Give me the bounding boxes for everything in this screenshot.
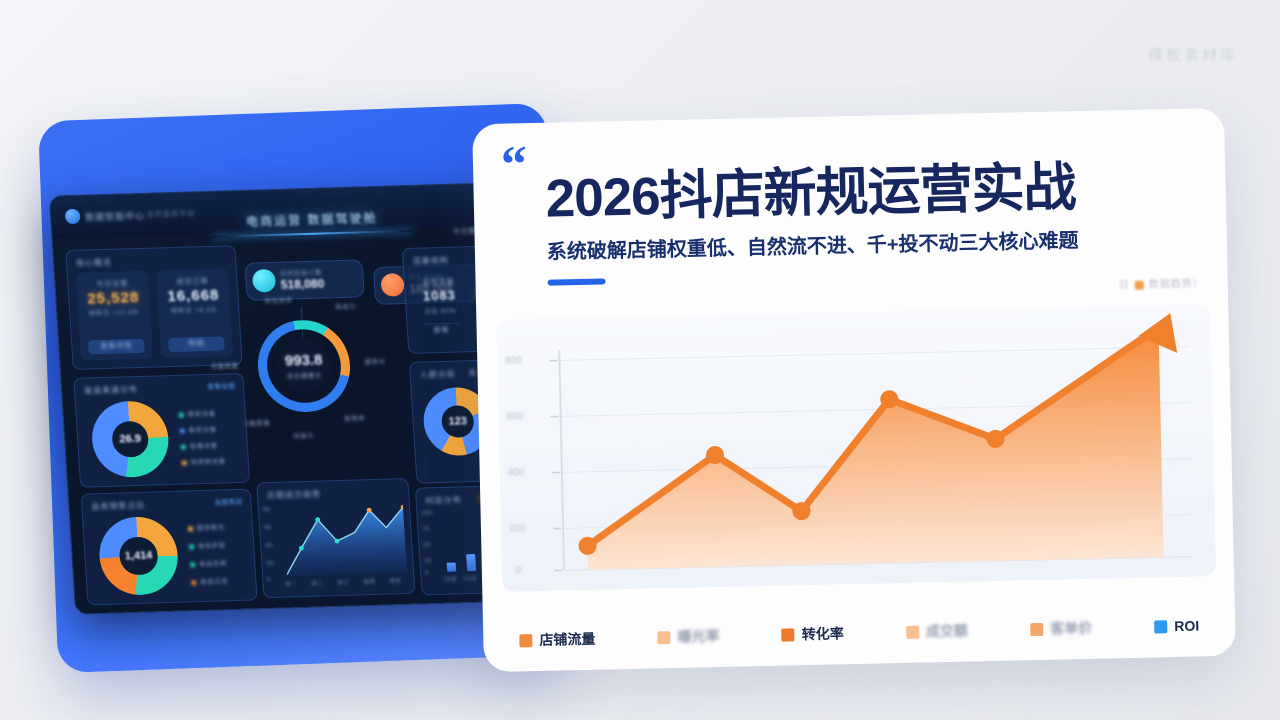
panel-more-link[interactable]: 查看全部	[207, 381, 236, 392]
pending-orders-icon	[380, 273, 404, 297]
x-tick: 周五	[389, 577, 401, 584]
y-tick: 2K	[266, 561, 275, 567]
y-tick: 8K	[263, 507, 272, 513]
legend-label: 客单价	[1050, 618, 1092, 639]
gauge-label: 商品力	[335, 302, 357, 312]
kpi-sub: 较昨日 +8.4%	[158, 304, 231, 315]
legend-item-aov[interactable]: 客单价	[1030, 618, 1092, 639]
gauge-label: 流量质量	[211, 361, 240, 371]
legend-label: 店铺流量	[539, 629, 595, 650]
kpi-value: 16,668	[157, 286, 230, 305]
y-tick: 25	[424, 558, 432, 564]
donut-chart: 1,414	[97, 516, 180, 596]
kpi-button[interactable]: 查看	[423, 322, 461, 338]
panel-category-share: 品类销售占比 全部类目 1,414 服饰鞋包 美妆护肤 食品生鲜 家居日用	[81, 489, 258, 606]
panel-title: 近期成交趋势	[267, 489, 322, 502]
gauge-label: 复购率	[344, 413, 366, 423]
legend-swatch-icon	[782, 628, 795, 641]
y-tick: 100	[421, 510, 433, 516]
y-axis-tick: 400	[508, 467, 525, 478]
content-card: “ 2026抖店新规运营实战 系统破解店铺权重低、自然流不进、千+投不动三大核心…	[472, 108, 1236, 672]
chart-meta-text: 数据趋势）	[1149, 278, 1204, 290]
legend-item: 服饰鞋包	[188, 522, 226, 532]
y-axis-tick: 600	[506, 411, 523, 422]
y-tick: 4K	[265, 543, 274, 549]
stat-pill[interactable]: 实时在线人数 518,080	[244, 259, 364, 300]
bar	[447, 563, 457, 572]
gauge-label: 转化效率	[265, 295, 294, 305]
dashboard-brand: 数据智能中心	[85, 209, 146, 224]
y-tick: 75	[422, 526, 430, 532]
legend-item: 直播流量	[180, 441, 218, 451]
legend-swatch-icon	[906, 625, 919, 638]
donut-value: 1,414	[97, 516, 180, 596]
kpi-value: 25,528	[77, 289, 150, 308]
page-title: 2026抖店新规运营实战	[545, 142, 1207, 232]
panel-title: 渠道来源分布	[84, 384, 139, 397]
donut-value: 26.9	[90, 400, 171, 478]
legend-label: 转化率	[802, 623, 844, 644]
legend-item-exposure[interactable]: 曝光率	[657, 626, 719, 647]
legend-item: 家居日用	[191, 576, 229, 586]
legend-item: 美妆护肤	[189, 540, 227, 550]
kpi-card[interactable]: 成交订单 16,668 较昨日 +8.4% 明细	[156, 268, 234, 358]
y-tick: 0	[425, 570, 429, 576]
x-tick: 周一	[285, 580, 297, 587]
panel-sales-trend: 近期成交趋势 8K 6K 4K 2K 0	[256, 478, 415, 598]
mini-area-chart	[283, 501, 408, 576]
legend-label: 成交额	[926, 621, 968, 642]
panel-channel-distribution: 渠道来源分布 查看全部 26.9 搜索流量 推荐流量 直播流量 短视频流量	[73, 373, 250, 488]
stat-pill-value: 518,080	[280, 276, 324, 291]
kpi-button[interactable]: 明细	[168, 336, 225, 352]
chart-meta-dot-icon	[1135, 281, 1144, 290]
y-axis-tick: 0	[516, 565, 522, 576]
legend-swatch-icon	[1154, 620, 1167, 633]
gauge-label: 内容力	[293, 431, 315, 441]
legend-item: 搜索流量	[178, 409, 216, 419]
y-axis-tick: 800	[505, 355, 522, 366]
bar	[466, 554, 476, 572]
kpi-button-label: 查看	[423, 323, 461, 338]
dashboard-brand-sub: 实时监控平台	[147, 208, 196, 219]
x-tick: 周三	[337, 579, 349, 586]
y-tick: 50	[423, 542, 431, 548]
chart-legend: 店铺流量 曝光率 转化率 成交额 客单价	[501, 612, 1217, 654]
kpi-sub: 占比 62%	[413, 305, 467, 316]
legend-label: ROI	[1174, 618, 1199, 635]
chart-meta-label: 日数据趋势）	[1119, 274, 1204, 291]
legend-item-traffic[interactable]: 店铺流量	[519, 629, 595, 651]
kpi-card[interactable]: 今日访客 25,528 较昨日 +12.8% 查看详情	[76, 271, 154, 361]
panel-more-link[interactable]: 全部类目	[214, 497, 243, 508]
donut-chart: 26.9	[90, 400, 171, 478]
legend-item-roi[interactable]: ROI	[1154, 618, 1199, 635]
kpi-button-label: 明细	[168, 336, 225, 352]
kpi-button[interactable]: 查看详情	[88, 339, 145, 355]
kpi-button-label: 查看详情	[88, 339, 145, 355]
chart-meta-prefix: 日	[1119, 280, 1130, 291]
gauge-chart: 993.8 综合健康分 流量质量 转化效率 商品力 服务分 复购率 内容力 流量…	[241, 305, 366, 426]
kpi-label: 自然流量	[412, 276, 466, 288]
legend-swatch-icon	[519, 634, 532, 647]
panel-title: 人群分层	[419, 369, 456, 381]
watermark-text: 模板素材库	[1148, 44, 1238, 65]
kpi-card[interactable]: 自然流量 1083 占比 62% 查看	[411, 269, 469, 344]
y-axis-tick: 200	[509, 523, 526, 534]
gauge-sub: 综合健康分	[287, 371, 323, 381]
legend-item: 短视频流量	[182, 456, 227, 466]
x-tick: 10点	[443, 575, 457, 582]
legend-swatch-icon	[657, 631, 670, 644]
panel-overview-title: 核心概览	[76, 257, 113, 269]
growth-chart	[496, 304, 1216, 592]
legend-item-gmv[interactable]: 成交额	[906, 621, 968, 642]
x-tick: 周四	[363, 578, 375, 585]
growth-chart-panel: 800 600 400 200 0	[496, 304, 1216, 592]
quote-mark-icon: “	[501, 145, 528, 186]
legend-swatch-icon	[1030, 622, 1043, 635]
x-tick: 周二	[311, 579, 323, 586]
gauge-value: 993.8	[284, 352, 323, 370]
kpi-sub: 较昨日 +12.8%	[78, 307, 151, 318]
online-users-icon	[252, 269, 276, 293]
legend-item-conversion[interactable]: 转化率	[782, 623, 844, 644]
panel-title: 流量结构	[412, 255, 449, 267]
accent-divider	[548, 278, 606, 285]
y-tick: 0	[267, 577, 271, 583]
y-tick: 6K	[264, 525, 273, 531]
panel-title: 时段分布	[425, 494, 462, 506]
legend-item: 推荐流量	[179, 425, 217, 435]
x-tick: 12点	[463, 575, 477, 582]
panel-overview: 核心概览 今日访客 25,528 较昨日 +12.8% 查看详情 成交订单 16…	[65, 245, 243, 370]
kpi-value: 1083	[412, 287, 466, 304]
tab-week[interactable]: 周	[468, 368, 477, 378]
legend-label: 曝光率	[677, 626, 719, 647]
gauge-label: 服务分	[365, 357, 387, 367]
panel-title: 品类销售占比	[91, 500, 146, 513]
legend-item: 食品生鲜	[190, 558, 228, 568]
slide-canvas: 模板素材库 数据智能中心 实时监控平台 电商运营 数据驾驶舱 今日数据 管理员 …	[0, 0, 1280, 720]
